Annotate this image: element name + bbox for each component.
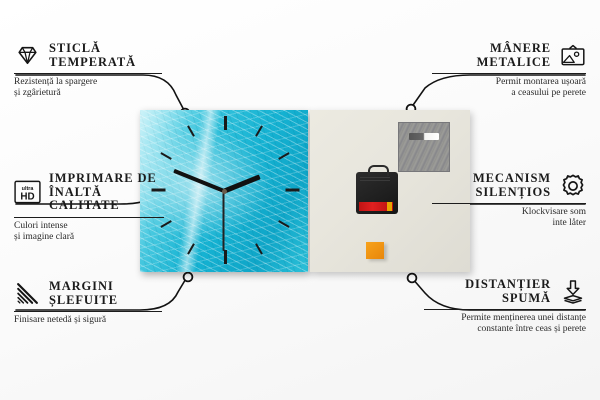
down-arrow-stack-icon — [559, 279, 586, 305]
callout-print-subtitle: Culori intense și imagine clară — [14, 221, 164, 243]
callout-spacer: DISTANȚIER SPUMĂ Permite menținerea unei… — [424, 278, 586, 335]
clock-front-panel — [140, 110, 308, 272]
callout-glass-subtitle: Rezistență la spargere și zgârietură — [14, 77, 162, 99]
mechanism-loop — [368, 165, 389, 176]
callout-handles-title: MÂNERE METALICE — [477, 42, 551, 69]
callout-edges-rule — [14, 311, 162, 312]
callout-edges-header: MARGINI ȘLEFUITE — [14, 280, 162, 307]
metal-hanger-part — [398, 122, 450, 172]
callout-handles-rule — [432, 73, 586, 74]
clock-center-pin — [222, 189, 227, 194]
callout-silent-rule — [432, 203, 586, 204]
callout-handles-header: MÂNERE METALICE — [432, 42, 586, 69]
foam-spacer-part — [366, 242, 384, 259]
clock-tick — [224, 250, 227, 264]
product-image-group — [140, 110, 470, 272]
battery-terminal — [387, 202, 392, 211]
polished-edge-icon — [14, 281, 41, 307]
callout-print: ultra HD IMPRIMARE DE ÎNALTĂ CALITATE Cu… — [14, 172, 164, 243]
mechanism-label — [360, 177, 390, 181]
clock-tick — [224, 116, 227, 130]
callout-glass-rule — [14, 73, 162, 74]
clock-tick — [286, 189, 300, 192]
callout-silent-title: MECANISM SILENȚIOS — [473, 172, 551, 199]
diamond-icon — [14, 43, 41, 69]
callout-glass: STICLĂ TEMPERATĂ Rezistență la spargere … — [14, 42, 162, 99]
wire-dot-edges — [184, 273, 193, 282]
callout-silent: MECANISM SILENȚIOS Klockvisare som inte … — [432, 172, 586, 229]
wire-dot-spacer — [408, 274, 417, 283]
infographic-canvas: STICLĂ TEMPERATĂ Rezistență la spargere … — [0, 0, 600, 400]
callout-print-rule — [14, 217, 164, 218]
callout-spacer-header: DISTANȚIER SPUMĂ — [424, 278, 586, 305]
ultra-hd-icon: ultra HD — [14, 179, 41, 205]
callout-glass-header: STICLĂ TEMPERATĂ — [14, 42, 162, 69]
callout-spacer-title: DISTANȚIER SPUMĂ — [465, 278, 551, 305]
callout-silent-header: MECANISM SILENȚIOS — [432, 172, 586, 199]
callout-edges-title: MARGINI ȘLEFUITE — [49, 280, 118, 307]
hanger-slot — [409, 133, 439, 140]
svg-text:HD: HD — [20, 192, 34, 203]
callout-print-header: ultra HD IMPRIMARE DE ÎNALTĂ CALITATE — [14, 172, 164, 213]
callout-edges: MARGINI ȘLEFUITE Finisare netedă și sigu… — [14, 280, 162, 326]
callout-silent-subtitle: Klockvisare som inte låter — [432, 207, 586, 229]
callout-handles-subtitle: Permit montarea ușoară a ceasului pe per… — [432, 77, 586, 99]
hanging-picture-icon — [559, 43, 586, 69]
callout-glass-title: STICLĂ TEMPERATĂ — [49, 42, 136, 69]
callout-spacer-rule — [424, 309, 586, 310]
callout-spacer-subtitle: Permite menținerea unei distanțe constan… — [424, 313, 586, 335]
clock-mechanism-part — [356, 172, 398, 214]
gear-icon — [559, 173, 586, 199]
callout-handles: MÂNERE METALICE Permit montarea ușoară a… — [432, 42, 586, 99]
battery-part — [359, 202, 393, 211]
callout-print-title: IMPRIMARE DE ÎNALTĂ CALITATE — [49, 172, 164, 213]
callout-edges-subtitle: Finisare netedă și sigură — [14, 315, 162, 326]
